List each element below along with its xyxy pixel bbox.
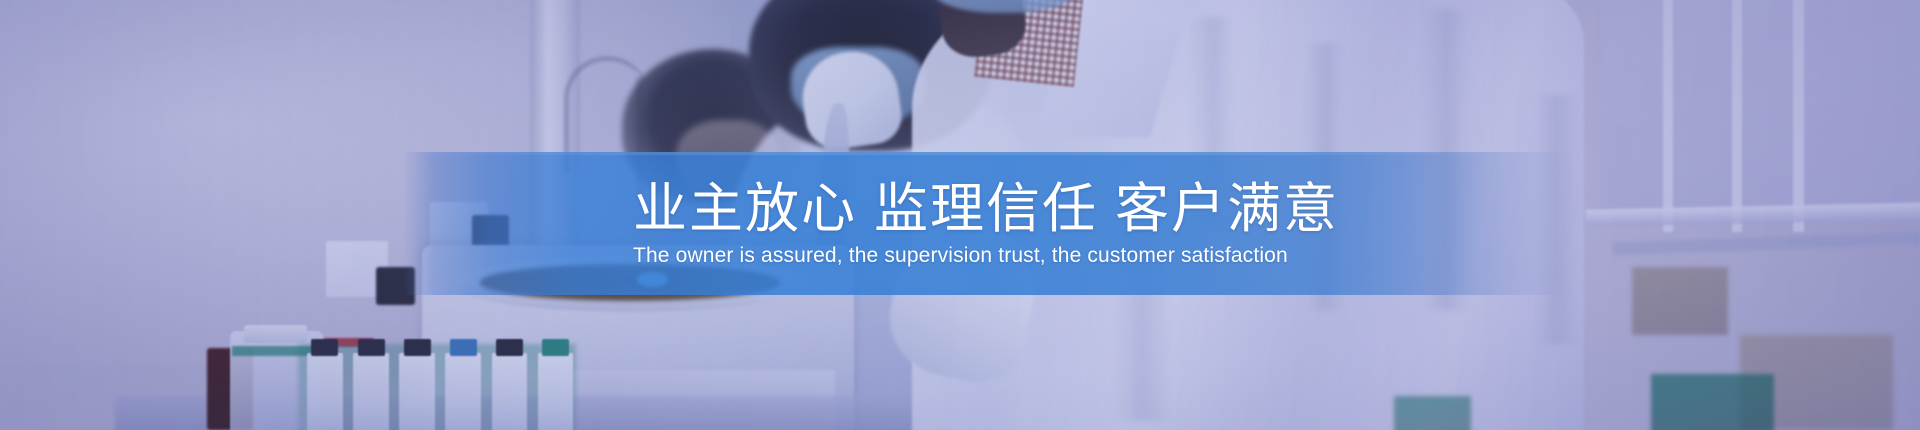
banner-subline: The owner is assured, the supervision tr… <box>633 245 1288 266</box>
banner-headline: 业主放心 监理信任 客户满意 <box>633 182 1339 236</box>
hero-banner: 业主放心 监理信任 客户满意 The owner is assured, the… <box>0 0 1920 430</box>
banner-copy: 业主放心 监理信任 客户满意 The owner is assured, the… <box>0 152 1920 295</box>
